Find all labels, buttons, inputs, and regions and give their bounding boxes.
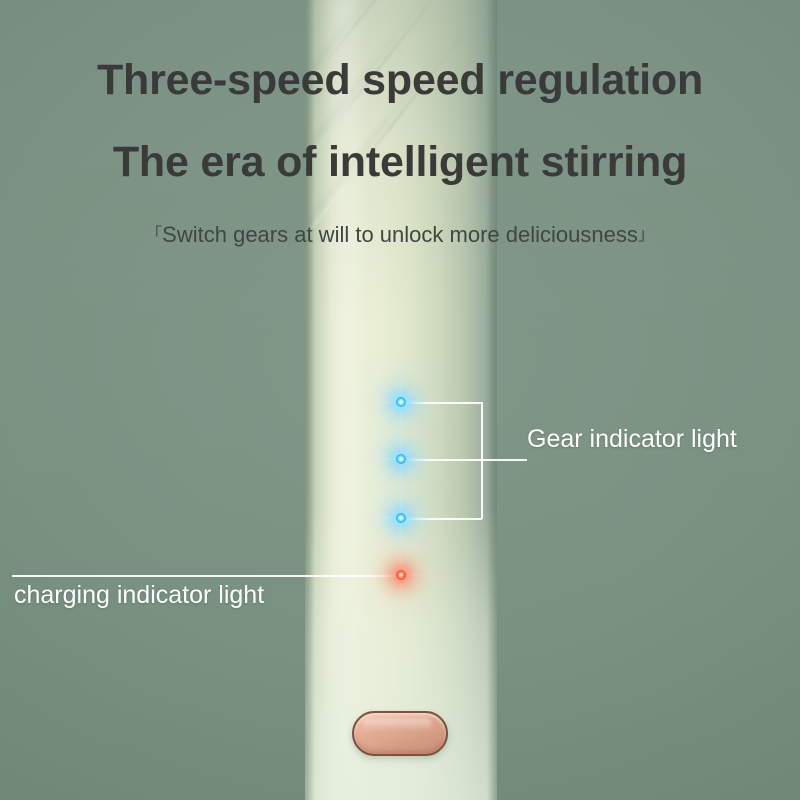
led-core (396, 454, 406, 464)
page-title-line-2: The era of intelligent stirring (0, 141, 800, 184)
product-left-edge (305, 0, 315, 800)
charging-indicator-label: charging indicator light (14, 583, 264, 608)
led-core (396, 570, 406, 580)
gear-indicator-label: Gear indicator light (527, 427, 737, 452)
subtitle-open-bracket: 「 (145, 225, 162, 244)
product-right-edge (487, 0, 497, 800)
charging-indicator-led (396, 570, 406, 580)
page-title-line-1: Three-speed speed regulation (0, 59, 800, 102)
product-feature-image: Three-speed speed regulation The era of … (0, 0, 800, 800)
power-button[interactable] (352, 711, 448, 756)
subtitle: 「Switch gears at will to unlock more del… (0, 224, 800, 246)
gear-indicator-led-1 (396, 397, 406, 407)
led-core (396, 513, 406, 523)
gear-leader-bracket (481, 402, 483, 519)
charging-leader-line (12, 575, 402, 577)
subtitle-close-bracket: 」 (638, 225, 655, 244)
gear-indicator-led-3 (396, 513, 406, 523)
led-core (396, 397, 406, 407)
gear-indicator-led-2 (396, 454, 406, 464)
subtitle-text: Switch gears at will to unlock more deli… (162, 222, 638, 247)
